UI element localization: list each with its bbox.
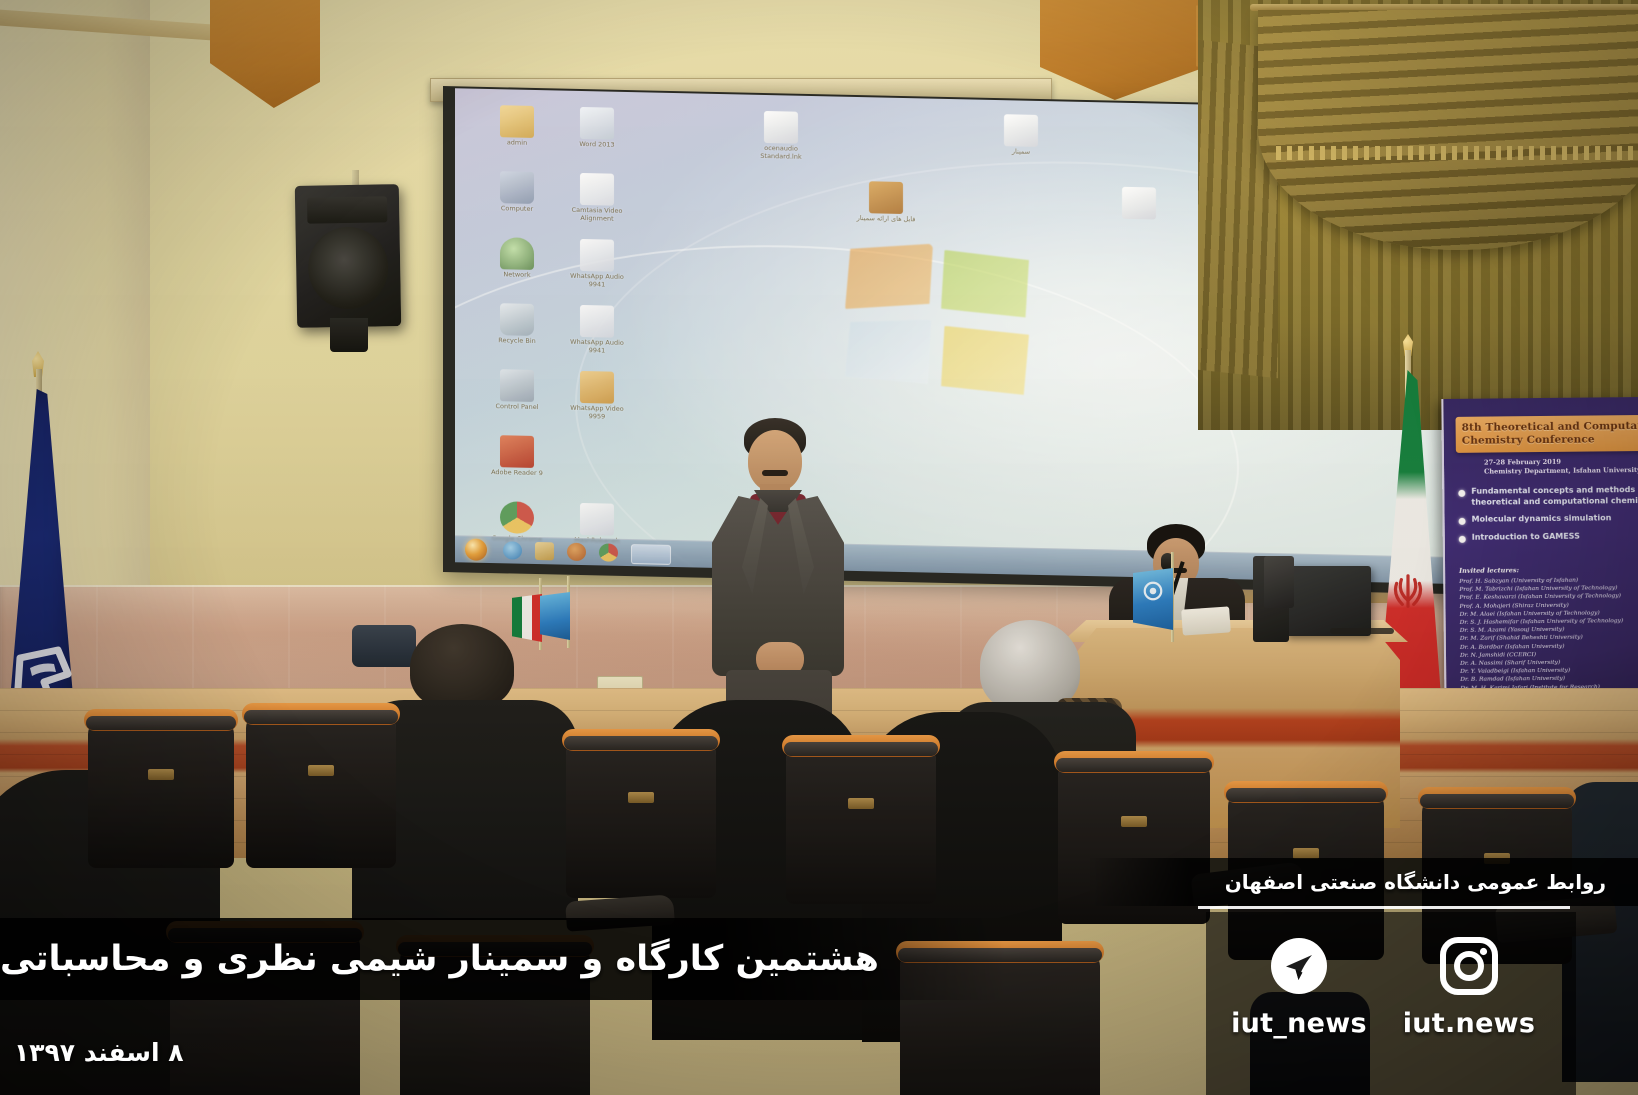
windows-logo-quadrant-green <box>941 250 1029 322</box>
desktop-icon-label: سمینار <box>985 148 1057 157</box>
seat-back <box>88 718 234 868</box>
seat-number-plate <box>308 765 334 776</box>
desktop-icon[interactable]: فایل های ارائه سمینار <box>850 181 922 224</box>
wma-icon <box>580 503 614 536</box>
desktop-icon-label: WhatsApp Video 9959 <box>561 405 633 422</box>
desktop-icon[interactable]: سمینار <box>985 114 1057 157</box>
desktop-icon[interactable]: WhatsApp Audio 9941 <box>561 239 633 290</box>
pdf-icon <box>500 435 534 468</box>
social-telegram[interactable]: iut_news <box>1224 934 1374 1039</box>
desktop-icon[interactable]: Computer <box>481 171 553 214</box>
telegram-icon[interactable] <box>1267 934 1331 998</box>
desktop-icon-label: ocenaudio Standard.lnk <box>745 145 817 162</box>
seat-back <box>566 738 716 898</box>
seat-trim-inner <box>1420 794 1574 808</box>
desktop-icon-label: Recycle Bin <box>481 337 553 346</box>
event-title: هشتمین کارگاه و سمینار شیمی نظری و محاسب… <box>0 918 930 1000</box>
desktop-icon[interactable]: Word 2013 <box>561 107 633 150</box>
photo-canvas: admin Computer Network Recycle Bin Contr… <box>0 0 1638 1095</box>
word-icon <box>580 107 614 140</box>
event-date: ۸ اسفند ۱۳۹۷ <box>14 1038 184 1067</box>
desktop-icon[interactable]: WhatsApp Video 9959 <box>561 371 633 422</box>
seat-back <box>786 744 936 904</box>
banner-bullet: Fundamental concepts and methods in theo… <box>1458 485 1638 508</box>
network-icon <box>500 237 534 270</box>
presenter-head <box>748 430 802 492</box>
public-relations-credit: روابط عمومی دانشگاه صنعتی اصفهان <box>1100 860 1620 904</box>
social-instagram[interactable]: iut.news <box>1394 934 1544 1039</box>
auditorium-seat[interactable] <box>566 738 716 898</box>
iran-emblem-icon <box>1389 568 1427 616</box>
control-panel-icon <box>500 369 534 402</box>
banner-topic-list: Fundamental concepts and methods in theo… <box>1458 485 1638 550</box>
windows-logo-quadrant-blue <box>845 318 933 390</box>
banner-bullet: Molecular dynamics simulation <box>1459 513 1638 526</box>
windows-logo <box>845 242 1040 406</box>
media-player-icon[interactable] <box>567 543 586 561</box>
desktop-icon-label: WhatsApp Audio 9941 <box>561 273 633 290</box>
seat-trim-inner <box>784 742 938 756</box>
seat-number-plate <box>1121 816 1147 827</box>
windows-logo-quadrant-orange <box>845 242 933 314</box>
desktop-icon-label: WhatsApp Audio 9941 <box>561 339 633 356</box>
seat-number-plate <box>148 769 174 780</box>
banner-title-band: 8th Theoretical and Computational Chemis… <box>1456 414 1638 452</box>
seat-back <box>246 712 396 868</box>
seat-trim-inner <box>86 716 236 730</box>
event-title-text: هشتمین کارگاه و سمینار شیمی نظری و محاسب… <box>0 936 879 982</box>
powerpoint-icon <box>580 173 614 206</box>
speaker-cone <box>307 226 388 309</box>
image-icon <box>869 181 903 214</box>
seat-trim-inner <box>1226 788 1386 802</box>
active-window-icon[interactable] <box>631 544 671 565</box>
desktop-monitor <box>1285 566 1371 636</box>
folder-icon <box>500 105 534 138</box>
desktop-icon[interactable] <box>1103 186 1175 222</box>
document-icon <box>1122 187 1156 220</box>
desktop-icon-label: Network <box>481 271 553 280</box>
desktop-icon[interactable]: Camtasia Video Alignment <box>561 173 633 224</box>
banner-title-line2: Chemistry Conference <box>1462 433 1638 448</box>
chrome-icon <box>500 501 534 534</box>
seat-trim-inner <box>1056 758 1212 772</box>
telegram-handle: iut_news <box>1224 1008 1374 1039</box>
desktop-icon-label: Word 2013 <box>561 141 633 150</box>
curtain-swag <box>1258 10 1638 250</box>
banner-subtitle: 27-28 February 2019 Chemistry Department… <box>1484 457 1638 477</box>
speaker-horn <box>307 196 387 223</box>
banner-place: Chemistry Department, Isfahan University <box>1484 466 1638 477</box>
desktop-icon-label: Control Panel <box>481 403 553 412</box>
seat-number-plate <box>628 792 654 803</box>
document-icon <box>764 111 798 144</box>
desktop-icon[interactable]: Network <box>481 237 553 280</box>
audience-hair <box>410 624 514 710</box>
desktop-icon-label: Computer <box>481 205 553 214</box>
social-handles-panel: iut_news iut.news <box>1206 912 1576 1095</box>
windows-logo-quadrant-yellow <box>941 326 1029 398</box>
desk-speaker <box>1264 556 1294 608</box>
credit-divider-rule <box>1198 906 1570 909</box>
presenter-moustache <box>762 470 788 476</box>
desktop-icon[interactable]: Adobe Reader 9 <box>481 435 553 478</box>
desktop-icon[interactable]: WhatsApp Audio 9941 <box>561 305 633 356</box>
video-icon <box>580 371 614 404</box>
desktop-icon-label: فایل های ارائه سمینار <box>850 215 922 224</box>
podium-papers <box>1181 606 1231 635</box>
podium-flag-emblem-icon <box>1142 580 1164 602</box>
start-orb-icon[interactable] <box>465 538 487 560</box>
desktop-icon[interactable]: ocenaudio Standard.lnk <box>745 111 817 162</box>
desktop-icon[interactable]: Control Panel <box>481 369 553 412</box>
conference-banner: 8th Theoretical and Computational Chemis… <box>1441 397 1638 721</box>
auditorium-seat[interactable] <box>88 718 234 868</box>
document-icon <box>1004 114 1038 147</box>
desktop-icon-label: Adobe Reader 9 <box>481 469 553 478</box>
chrome-icon[interactable] <box>599 543 618 561</box>
credit-text: روابط عمومی دانشگاه صنعتی اصفهان <box>1225 870 1606 894</box>
auditorium-seat[interactable] <box>786 744 936 904</box>
speaker-bracket <box>330 318 368 352</box>
curtain-tassel-fringe <box>1276 146 1638 160</box>
cable-bundle <box>1330 628 1394 634</box>
seat-number-plate <box>848 798 874 809</box>
auditorium-seat[interactable] <box>246 712 396 868</box>
seat-trim-inner <box>244 710 398 724</box>
seat-trim-inner <box>564 736 718 750</box>
recycle-bin-icon <box>500 303 534 336</box>
desktop-icon[interactable]: Recycle Bin <box>481 303 553 346</box>
mp3-icon <box>580 305 614 338</box>
windows-explorer-icon[interactable] <box>535 542 554 560</box>
computer-icon <box>500 171 534 204</box>
banner-invited-header: Invited lectures: <box>1459 565 1638 575</box>
desktop-icon-label: Camtasia Video Alignment <box>561 207 633 224</box>
mp3-icon <box>580 239 614 272</box>
instagram-handle: iut.news <box>1394 1008 1544 1039</box>
wall-pa-speaker <box>295 184 401 328</box>
internet-explorer-icon[interactable] <box>503 541 522 559</box>
desktop-icon-label: admin <box>481 139 553 148</box>
instagram-icon[interactable] <box>1437 934 1501 998</box>
banner-bullet: Introduction to GAMESS <box>1459 530 1638 543</box>
desktop-icon[interactable]: admin <box>481 105 553 148</box>
